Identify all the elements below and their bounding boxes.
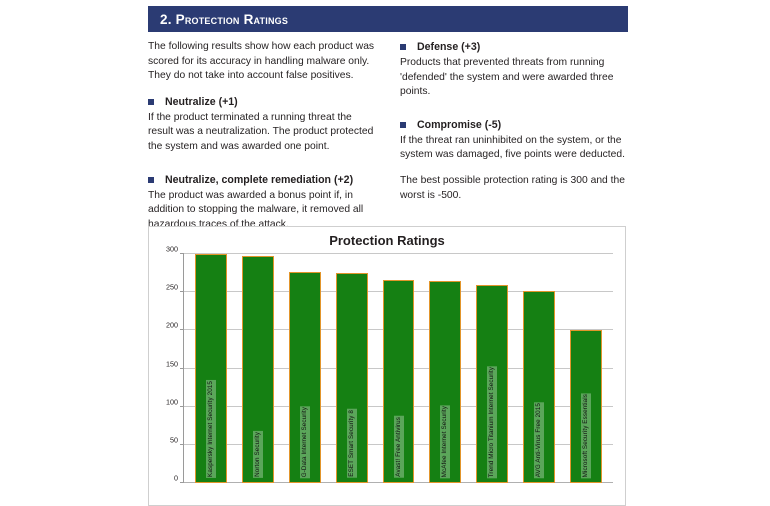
chart-title: Protection Ratings	[149, 233, 625, 248]
y-tick-label: 0	[174, 474, 178, 483]
chart-bars: Kaspersky Internet Security 2015Norton S…	[184, 254, 613, 483]
bullet-square-icon	[148, 177, 154, 183]
document-page: 2. Protection Ratings The following resu…	[0, 0, 770, 500]
bar-label: Trend Micro Titanium Internet Security	[487, 366, 497, 478]
bar-slot: Norton Security	[235, 254, 282, 483]
y-tick-label: 100	[166, 397, 178, 406]
bar-label: Norton Security	[253, 431, 263, 478]
spacer	[400, 111, 628, 118]
bullet-square-icon	[148, 99, 154, 105]
definition-body-neutralize: If the product terminated a running thre…	[148, 111, 376, 155]
body-columns: The following results show how each prod…	[148, 40, 640, 215]
definition-body-compromise: If the threat ran uninhibited on the sys…	[400, 134, 628, 163]
bar-slot: McAfee Internet Security	[422, 254, 469, 483]
bar-slot: Trend Micro Titanium Internet Security	[469, 254, 516, 483]
bar-slot: ESET Smart Security 8	[328, 254, 375, 483]
closing-paragraph: The best possible protection rating is 3…	[400, 174, 628, 203]
bullet-square-icon	[400, 44, 406, 50]
definition-heading-defense: Defense (+3)	[400, 40, 628, 54]
spacer	[148, 166, 376, 173]
y-tick-label: 300	[166, 245, 178, 254]
chart-plot-area: 050100150200250300 Kaspersky Internet Se…	[184, 254, 613, 483]
page-title: 2. Protection Ratings	[148, 12, 288, 27]
chart-bar[interactable]: Avast! Free Antivirus	[383, 280, 415, 483]
chart-bar[interactable]: McAfee Internet Security	[429, 281, 461, 483]
protection-ratings-chart: Protection Ratings 050100150200250300 Ka…	[148, 226, 626, 506]
definition-label: Neutralize (+1)	[165, 95, 238, 109]
column-left: The following results show how each prod…	[148, 40, 376, 243]
chart-bar[interactable]: G-Data Internet Security	[289, 272, 321, 483]
bar-slot: Kaspersky Internet Security 2015	[188, 254, 235, 483]
column-right: Defense (+3) Products that prevented thr…	[400, 40, 628, 214]
chart-bar[interactable]: Microsoft Security Essentials	[570, 330, 602, 483]
bullet-square-icon	[400, 122, 406, 128]
y-tick-label: 150	[166, 359, 178, 368]
definition-body-defense: Products that prevented threats from run…	[400, 56, 628, 100]
bar-label: McAfee Internet Security	[440, 405, 450, 478]
bar-label: Kaspersky Internet Security 2015	[206, 380, 216, 478]
definition-heading-compromise: Compromise (-5)	[400, 118, 628, 132]
y-tick-label: 200	[166, 321, 178, 330]
chart-bar[interactable]: AVG Anti-Virus Free 2015	[523, 291, 555, 483]
chart-bar[interactable]: Kaspersky Internet Security 2015	[195, 254, 227, 483]
definition-label: Compromise (-5)	[417, 118, 501, 132]
y-tick-label: 50	[170, 435, 178, 444]
section-header-bar: 2. Protection Ratings	[148, 6, 628, 32]
chart-bar[interactable]: Norton Security	[242, 256, 274, 483]
bar-label: Avast! Free Antivirus	[394, 416, 404, 478]
definition-heading-neutralize: Neutralize (+1)	[148, 95, 376, 109]
bar-label: Microsoft Security Essentials	[581, 393, 591, 478]
chart-bar[interactable]: ESET Smart Security 8	[336, 273, 368, 483]
intro-paragraph: The following results show how each prod…	[148, 40, 376, 84]
y-tick-label: 250	[166, 283, 178, 292]
definition-label: Defense (+3)	[417, 40, 480, 54]
definition-heading-neutralize-remediation: Neutralize, complete remediation (+2)	[148, 173, 376, 187]
bar-label: ESET Smart Security 8	[347, 409, 357, 478]
bar-label: G-Data Internet Security	[300, 406, 310, 478]
definition-label: Neutralize, complete remediation (+2)	[165, 173, 353, 187]
bar-slot: AVG Anti-Virus Free 2015	[515, 254, 562, 483]
bar-slot: Microsoft Security Essentials	[562, 254, 609, 483]
bar-slot: G-Data Internet Security	[282, 254, 329, 483]
bar-label: AVG Anti-Virus Free 2015	[534, 402, 544, 478]
chart-bar[interactable]: Trend Micro Titanium Internet Security	[476, 285, 508, 483]
bar-slot: Avast! Free Antivirus	[375, 254, 422, 483]
